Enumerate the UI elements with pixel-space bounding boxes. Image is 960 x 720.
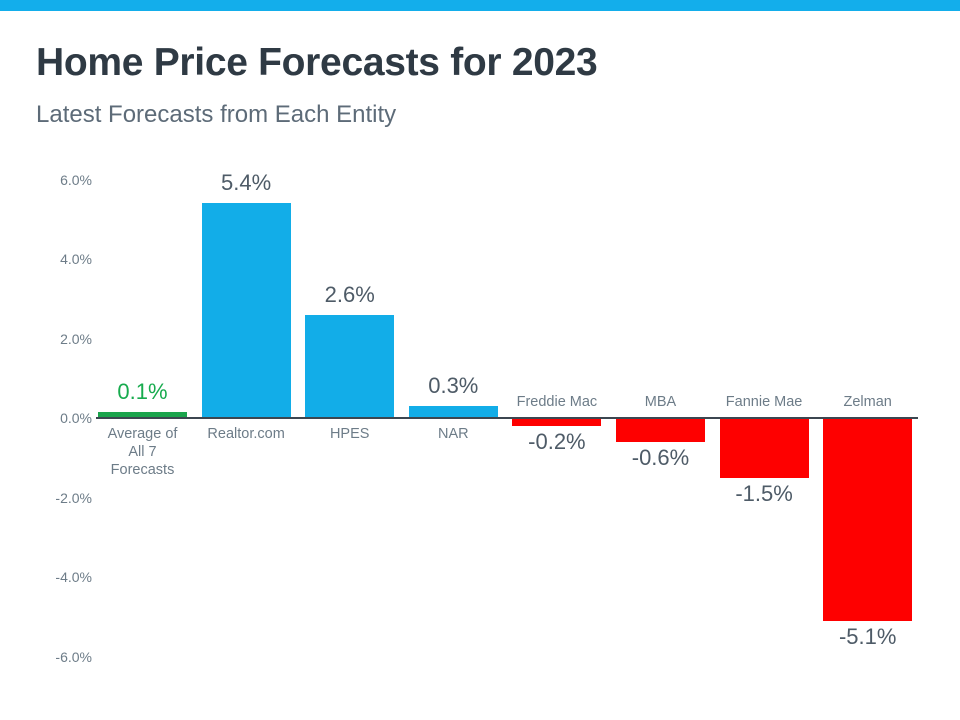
bar-value-label-fannie-mae: -1.5%: [694, 481, 834, 507]
y-axis-tick-4: 4.0%: [32, 251, 92, 267]
y-axis-tick-neg4: -4.0%: [32, 569, 92, 585]
y-axis-tick-neg2: -2.0%: [32, 490, 92, 506]
bar-mba[interactable]: [616, 418, 705, 442]
zero-baseline: [96, 417, 918, 419]
x-axis-label-line: Forecasts: [73, 461, 213, 479]
y-axis-tick-neg6: -6.0%: [32, 649, 92, 665]
y-axis-tick-0: 0.0%: [32, 410, 92, 426]
bar-zelman[interactable]: [823, 418, 912, 621]
bar-freddie-mac[interactable]: [512, 418, 601, 426]
x-axis-label-line: All 7: [73, 443, 213, 461]
bar-fannie-mae[interactable]: [720, 418, 809, 478]
bar-hpes[interactable]: [305, 315, 394, 418]
y-axis-tick-2: 2.0%: [32, 331, 92, 347]
bar-realtor-com[interactable]: [202, 203, 291, 418]
bar-value-label-hpes: 2.6%: [280, 282, 420, 308]
y-axis-tick-labels: 6.0%4.0%2.0%0.0%-2.0%-4.0%-6.0%: [32, 0, 92, 720]
x-axis-label-zelman: Zelman: [798, 393, 938, 411]
bar-value-label-mba: -0.6%: [591, 445, 731, 471]
x-axis-label-line: Zelman: [798, 393, 938, 411]
bar-value-label-zelman: -5.1%: [798, 624, 938, 650]
slide-root: Home Price Forecasts for 2023 Latest For…: [0, 0, 960, 720]
bar-chart: 6.0%4.0%2.0%0.0%-2.0%-4.0%-6.0% 0.1%Aver…: [0, 0, 960, 720]
bar-value-label-realtor-com: 5.4%: [176, 170, 316, 196]
bar-value-label-average-of-all-7-forecasts: 0.1%: [73, 379, 213, 405]
y-axis-tick-6: 6.0%: [32, 172, 92, 188]
